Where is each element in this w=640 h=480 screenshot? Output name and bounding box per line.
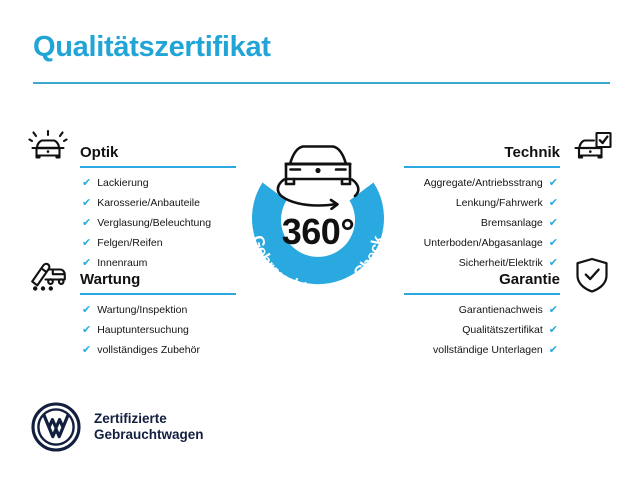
section-technik-header: Technik (404, 128, 614, 168)
section-wartung: Wartung ✔Wartung/Inspektion ✔Hauptunters… (26, 255, 236, 365)
section-garantie-header: Garantie (404, 255, 614, 295)
list-item-label: Felgen/Reifen (97, 238, 162, 249)
car-checkbox-icon (570, 128, 614, 168)
section-garantie-title: Garantie (404, 272, 560, 294)
section-technik-title-wrap: Technik (404, 145, 570, 169)
check-icon: ✔ (549, 345, 558, 356)
check-icon: ✔ (549, 305, 558, 316)
page-title: Qualitätszertifikat (33, 32, 610, 62)
check-icon: ✔ (549, 325, 558, 336)
check-icon: ✔ (82, 345, 91, 356)
header-divider (33, 82, 610, 84)
list-item-label: Karosserie/Anbauteile (97, 198, 200, 209)
section-wartung-title-wrap: Wartung (70, 272, 236, 296)
list-item-label: Lenkung/Fahrwerk (456, 198, 543, 209)
list-item-label: vollständige Unterlagen (433, 345, 543, 356)
list-item: ✔Unterboden/Abgasanlage (404, 238, 558, 249)
section-optik-underline (80, 166, 236, 168)
list-item-label: Qualitätszertifikat (462, 325, 543, 336)
list-item: ✔Aggregate/Antriebsstrang (404, 178, 558, 189)
section-optik-title-wrap: Optik (70, 145, 236, 169)
section-garantie-title-wrap: Garantie (404, 272, 570, 296)
list-item: ✔Karosserie/Anbauteile (82, 198, 236, 209)
badge-360-gebrauchtwagen-check: Gebrauchtwagen-Check 360° (228, 120, 408, 310)
list-item-label: Bremsanlage (481, 218, 543, 229)
list-item-label: Unterboden/Abgasanlage (424, 238, 543, 249)
check-icon: ✔ (82, 305, 91, 316)
list-item-label: Aggregate/Antriebsstrang (424, 178, 543, 189)
footer-text: Zertifizierte Gebrauchtwagen (94, 411, 204, 444)
check-icon: ✔ (549, 218, 558, 229)
list-item: ✔Felgen/Reifen (82, 238, 236, 249)
vw-roundel-logo (31, 402, 81, 452)
shield-check-icon (570, 255, 614, 295)
header: Qualitätszertifikat (33, 32, 610, 84)
car-rotate-icon (278, 147, 358, 209)
car-shine-icon (26, 128, 70, 168)
list-item: ✔Qualitätszertifikat (404, 325, 558, 336)
list-item: ✔Bremsanlage (404, 218, 558, 229)
footer-logo-lockup: Zertifizierte Gebrauchtwagen (31, 402, 204, 452)
section-garantie: Garantie ✔Garantienachweis ✔Qualitätszer… (404, 255, 614, 365)
list-item-label: Wartung/Inspektion (97, 305, 187, 316)
certificate-page: Qualitätszertifikat Optik (0, 0, 640, 480)
section-technik-title: Technik (404, 145, 560, 167)
list-item-label: Verglasung/Beleuchtung (97, 218, 211, 229)
check-icon: ✔ (82, 238, 91, 249)
badge-center-label: 360° (282, 211, 354, 252)
list-item-label: Lackierung (97, 178, 148, 189)
list-item: ✔Hauptuntersuchung (82, 325, 236, 336)
section-optik-header: Optik (26, 128, 236, 168)
section-wartung-underline (80, 293, 236, 295)
check-icon: ✔ (82, 218, 91, 229)
section-wartung-header: Wartung (26, 255, 236, 295)
list-item-label: vollständiges Zubehör (97, 345, 200, 356)
list-item-label: Hauptuntersuchung (97, 325, 189, 336)
list-item: ✔vollständige Unterlagen (404, 345, 558, 356)
section-technik-underline (404, 166, 560, 168)
section-optik-title: Optik (80, 145, 236, 167)
check-icon: ✔ (549, 238, 558, 249)
car-wrench-icon (26, 255, 70, 295)
list-item: ✔Lenkung/Fahrwerk (404, 198, 558, 209)
section-wartung-title: Wartung (80, 272, 236, 294)
list-item: ✔Lackierung (82, 178, 236, 189)
check-icon: ✔ (549, 198, 558, 209)
list-item-label: Garantienachweis (459, 305, 543, 316)
list-item: ✔vollständiges Zubehör (82, 345, 236, 356)
check-icon: ✔ (82, 325, 91, 336)
check-icon: ✔ (82, 198, 91, 209)
section-garantie-underline (404, 293, 560, 295)
section-wartung-list: ✔Wartung/Inspektion ✔Hauptuntersuchung ✔… (26, 305, 236, 356)
list-item: ✔Wartung/Inspektion (82, 305, 236, 316)
section-garantie-list: ✔Garantienachweis ✔Qualitätszertifikat ✔… (404, 305, 614, 356)
list-item: ✔Verglasung/Beleuchtung (82, 218, 236, 229)
check-icon: ✔ (549, 178, 558, 189)
check-icon: ✔ (82, 178, 91, 189)
list-item: ✔Garantienachweis (404, 305, 558, 316)
